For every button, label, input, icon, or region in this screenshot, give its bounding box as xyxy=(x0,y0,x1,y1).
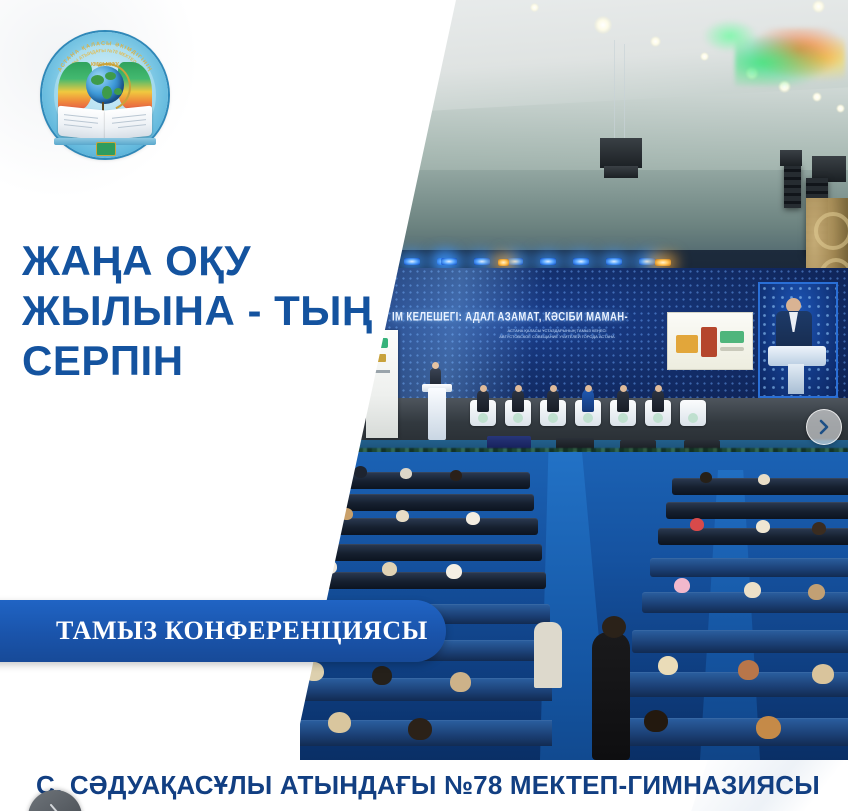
carousel-next-button[interactable] xyxy=(806,409,842,445)
audience-head xyxy=(808,584,825,600)
chevron-right-icon xyxy=(44,802,64,811)
globe-landmass xyxy=(105,72,116,80)
audience-head xyxy=(674,578,690,593)
stage-wash-light xyxy=(498,259,509,266)
seat-row xyxy=(666,502,848,519)
panelist xyxy=(477,390,489,412)
stage-wash-light xyxy=(540,258,556,265)
panelist xyxy=(617,390,629,412)
globe-landmass xyxy=(91,75,104,85)
hanging-speaker xyxy=(600,138,642,168)
panelist xyxy=(547,390,559,412)
audience-head xyxy=(756,520,770,533)
stage-wash-light xyxy=(404,258,420,265)
audience-head xyxy=(744,582,761,598)
audience-head xyxy=(382,562,397,576)
school-logo[interactable]: АСТАНА ҚАЛАСЫ ӘКІМДІГІНІҢ "С.СӘДУАҚАСҰЛЫ… xyxy=(34,22,176,170)
standing-attendee xyxy=(592,632,630,760)
seat-row xyxy=(650,558,848,577)
audience-head xyxy=(400,468,412,479)
globe-landmass xyxy=(102,86,112,99)
panelist xyxy=(582,390,594,412)
line-array-speaker xyxy=(784,164,801,208)
slide-graphic xyxy=(701,327,717,357)
audience-head xyxy=(658,656,678,675)
event-badge-label: ТАМЫЗ КОНФЕРЕНЦИЯСЫ xyxy=(56,616,428,646)
standing-attendee xyxy=(534,622,562,688)
seat-row xyxy=(300,572,546,589)
speaker-rigging-wire xyxy=(614,40,615,142)
side-projection-screen xyxy=(758,282,838,398)
page-title: ЖАҢА ОҚУ ЖЫЛЫНА - ТЫҢ СЕРПІН xyxy=(22,236,382,386)
audience-head xyxy=(466,512,480,525)
led-subtitle-line-2: АВГУСТОВСКОЕ СОВЕЩАНИЕ УЧИТЕЛЕЙ ГОРОДА А… xyxy=(442,334,672,340)
school-name-label: С. СӘДУАҚАСҰЛЫ АТЫНДАҒЫ №78 МЕКТЕП-ГИМНА… xyxy=(36,770,820,801)
audience-head xyxy=(812,664,834,684)
book-page-right xyxy=(105,106,152,141)
audience-head xyxy=(756,716,781,739)
seat-row xyxy=(632,630,848,653)
slide-graphic xyxy=(720,331,744,343)
ceiling-spotlight xyxy=(530,3,539,12)
hanging-speaker xyxy=(780,150,802,166)
audience-head xyxy=(446,564,462,579)
audience-head xyxy=(700,472,712,483)
audience-head xyxy=(738,660,759,680)
headline-line-2: ЖЫЛЫНА - ТЫҢ xyxy=(22,286,382,336)
stage-wash-light xyxy=(639,258,655,265)
lectern xyxy=(428,388,446,440)
ceiling-spotlight xyxy=(812,92,822,102)
logo-open-book-icon xyxy=(58,108,152,142)
led-screen-subtitle: АСТАНА ҚАЛАСЫ ҰСТАЗДАРЫНЫҢ ТАМЫЗ КЕҢЕСІ … xyxy=(442,328,672,340)
audience-head xyxy=(408,718,432,740)
led-screen-title: ІМ КЕЛЕШЕГІ: АДАЛ АЗАМАТ, КӘСІБИ МАМАН- xyxy=(392,311,692,325)
audience-head xyxy=(690,518,704,531)
audience-head xyxy=(354,466,367,478)
audience-head xyxy=(812,522,826,535)
seat-row xyxy=(300,678,552,701)
ceiling-spotlight xyxy=(812,0,825,13)
speaker-rigging-wire xyxy=(624,44,625,142)
audience-head xyxy=(450,470,462,481)
ceiling-spotlight xyxy=(650,36,661,47)
footer-bar: С. СӘДУАҚАСҰЛЫ АТЫНДАҒЫ №78 МЕКТЕП-ГИМНА… xyxy=(0,760,848,811)
ceiling-spotlight xyxy=(836,104,845,113)
audience-head xyxy=(758,474,770,485)
book-line xyxy=(64,124,92,128)
banner-slide: ІМ КЕЛЕШЕГІ: АДАЛ АЗАМАТ, КӘСІБИ МАМАН- … xyxy=(0,0,848,811)
globe-landmass xyxy=(114,88,122,95)
podium-top xyxy=(768,346,826,366)
audience-head xyxy=(644,710,668,732)
standing-attendee-head xyxy=(602,616,626,638)
headline-line-3: СЕРПІН xyxy=(22,336,382,386)
stage-wash-light xyxy=(474,258,490,265)
chevron-right-icon xyxy=(816,419,832,435)
book-page-left xyxy=(58,106,105,141)
hanging-speaker xyxy=(604,166,638,178)
book-line xyxy=(112,119,146,124)
panelist xyxy=(652,390,664,412)
slide-graphic xyxy=(676,335,698,353)
ceiling-spotlight xyxy=(594,16,612,34)
logo-globe-icon xyxy=(86,66,124,104)
audience-head xyxy=(450,672,471,692)
gold-wall-ornament xyxy=(814,212,848,250)
slide-graphic xyxy=(720,347,744,351)
book-line xyxy=(118,124,146,128)
stage-wash-light xyxy=(573,258,589,265)
ceiling-light-flare xyxy=(700,18,760,54)
book-line xyxy=(64,119,98,124)
panelist xyxy=(512,390,524,412)
book-line xyxy=(64,114,98,119)
podium-stem xyxy=(788,364,804,394)
logo-small-emblem xyxy=(96,142,116,156)
stage-wash-light xyxy=(441,258,457,265)
audience-head xyxy=(328,712,351,733)
stage-wash-light xyxy=(606,258,622,265)
stage-wash-light xyxy=(655,259,671,266)
audience-head xyxy=(396,510,409,522)
headline-line-1: ЖАҢА ОҚУ xyxy=(22,236,382,286)
audience-head xyxy=(372,666,392,685)
panel-chair xyxy=(680,400,706,426)
event-badge: ТАМЫЗ КОНФЕРЕНЦИЯСЫ xyxy=(0,600,446,662)
stage-wash-light xyxy=(507,258,523,265)
presentation-slide xyxy=(667,312,753,370)
audience-seat-block-right xyxy=(596,470,848,760)
book-line xyxy=(112,114,146,119)
